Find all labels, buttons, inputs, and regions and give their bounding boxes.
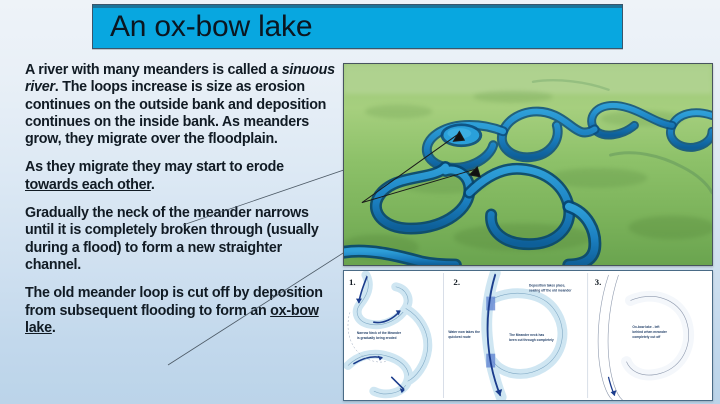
paragraph-3: Gradually the neck of the meander narrow…: [25, 205, 337, 274]
slide-title-bar: An ox-bow lake: [92, 4, 623, 49]
panel-3-label-line-3: completely cut off: [632, 335, 661, 339]
panel-3-number: 3.: [595, 277, 602, 287]
panel-3-label-line-1: Ox-bow lake - left: [632, 325, 660, 329]
panel-2-label-line-5: The Meander neck has: [509, 333, 544, 337]
panel-3-label-line-2: behind when meander: [632, 330, 667, 334]
panel-2-label-line-2: quickest route: [448, 335, 471, 339]
aerial-river-photo: [343, 63, 713, 266]
panel-2-label-line-4: sealing off the old meander: [529, 289, 572, 293]
p2-run-0: As they migrate they may start to erode: [25, 159, 284, 175]
slide-canvas: An ox-bow lake A river with many meander…: [0, 0, 720, 404]
p1-run-2: . The loops increase is size as erosion …: [25, 79, 326, 147]
p2-run-1: towards each other: [25, 177, 151, 193]
panel-1-label-line-2: is gradually being eroded: [357, 336, 397, 340]
panel-1-label-line-1: Narrow Neck of the Meander: [357, 331, 402, 335]
paragraph-4: The old meander loop is cut off by depos…: [25, 285, 337, 337]
p2-run-2: .: [151, 177, 155, 193]
p3-run-0: Gradually the neck of the meander narrow…: [25, 205, 319, 273]
oxbow-formation-graphic: 1.: [344, 271, 712, 400]
paragraph-2: As they migrate they may start to erode …: [25, 159, 337, 194]
page-title: An ox-bow lake: [110, 8, 312, 46]
panel-1-number: 1.: [349, 277, 356, 287]
panel-2-label-line-3: Deposition takes place,: [529, 284, 565, 288]
panel-2-number: 2.: [453, 277, 460, 287]
oxbow-formation-diagram: 1.: [343, 270, 713, 401]
body-text-column: A river with many meanders is called a s…: [25, 62, 337, 337]
p1-run-0: A river with many meanders is called a: [25, 62, 282, 78]
aerial-photo-graphic: [344, 64, 712, 265]
p4-run-2: .: [52, 320, 56, 336]
panel-2-label-line-6: been cut through completely: [509, 338, 554, 342]
panel-2-label-line-1: Water now takes the: [448, 330, 480, 334]
paragraph-1: A river with many meanders is called a s…: [25, 62, 337, 148]
